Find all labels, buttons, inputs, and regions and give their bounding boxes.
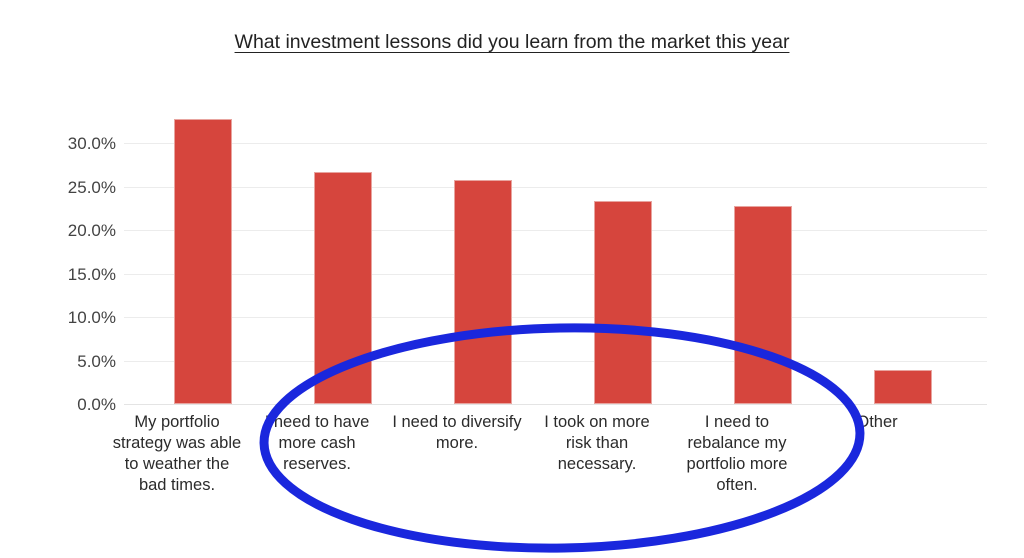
- y-tick-4: 20.0%: [24, 222, 116, 239]
- x-tick-label-3: I took on more risk than necessary.: [531, 412, 663, 475]
- y-axis: 0.0% 5.0% 10.0% 15.0% 20.0% 25.0% 30.0%: [12, 143, 116, 404]
- bar-3[interactable]: [594, 201, 652, 404]
- x-axis: My portfolio strategy was able to weathe…: [124, 412, 987, 542]
- y-tick-0: 0.0%: [24, 396, 116, 413]
- bar-series: [124, 143, 987, 404]
- bar-4[interactable]: [734, 206, 792, 404]
- x-tick-label-0: My portfolio strategy was able to weathe…: [111, 412, 243, 496]
- y-tick-2: 10.0%: [24, 309, 116, 326]
- x-tick-label-4: I need to rebalance my portfolio more of…: [671, 412, 803, 496]
- bar-5[interactable]: [874, 370, 932, 404]
- x-tick-label-5: Other: [811, 412, 943, 433]
- gridline-0: [124, 404, 987, 405]
- y-tick-5: 25.0%: [24, 179, 116, 196]
- y-tick-3: 15.0%: [24, 266, 116, 283]
- bar-2[interactable]: [454, 180, 512, 404]
- y-tick-1: 5.0%: [24, 353, 116, 370]
- y-tick-6: 30.0%: [24, 135, 116, 152]
- x-tick-label-2: I need to diversify more.: [391, 412, 523, 454]
- x-tick-label-1: I need to have more cash reserves.: [251, 412, 383, 475]
- chart-page: What investment lessons did you learn fr…: [0, 0, 1024, 558]
- bar-1[interactable]: [314, 172, 372, 404]
- chart-title: What investment lessons did you learn fr…: [0, 29, 1024, 55]
- bar-0[interactable]: [174, 119, 232, 404]
